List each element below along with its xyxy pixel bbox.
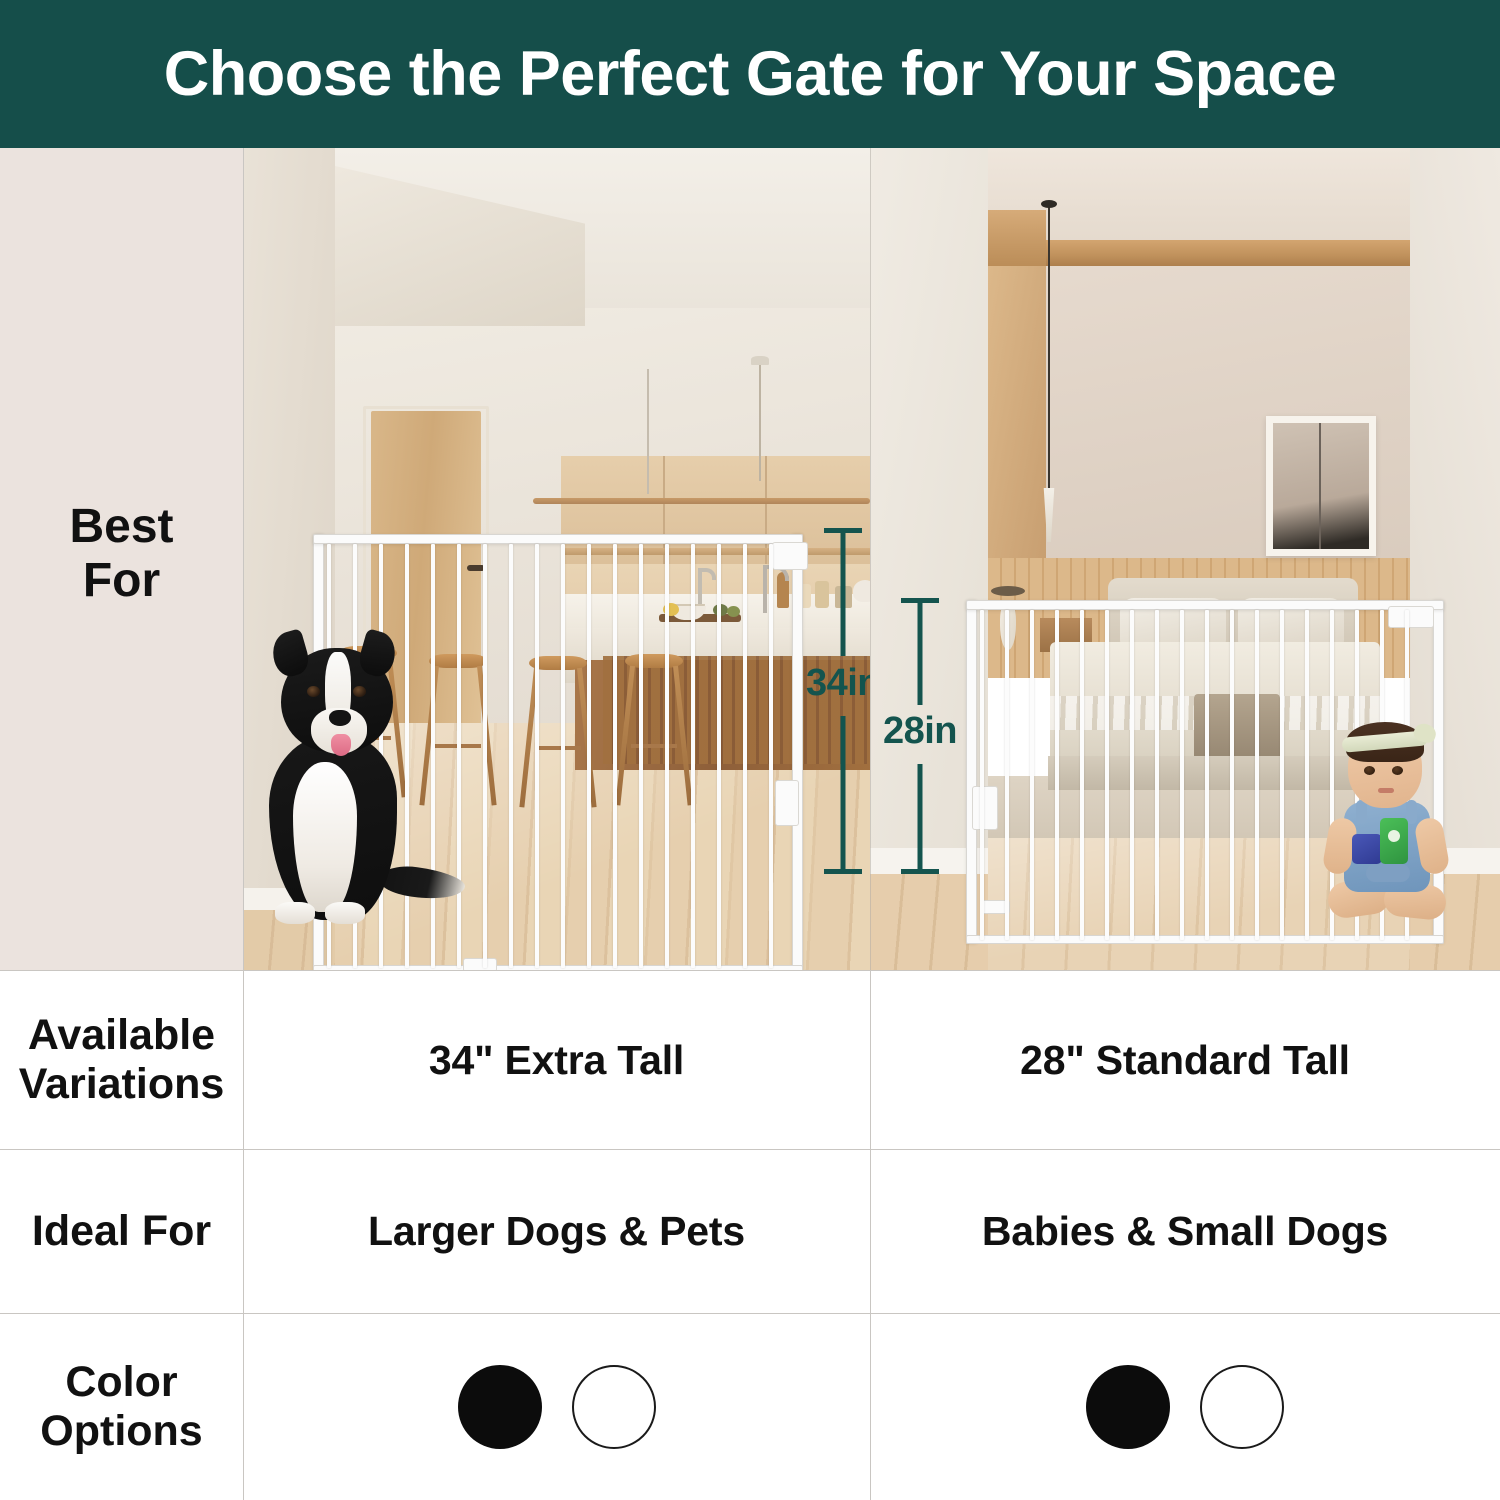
cell-colors-col-b xyxy=(870,1314,1500,1500)
dimension-annotation-34in: 34in xyxy=(783,528,870,874)
ideal-value-standard: Babies & Small Dogs xyxy=(982,1208,1388,1255)
row-label-best-for: Best For xyxy=(0,148,243,970)
color-options-row: Color Options xyxy=(0,1314,1500,1500)
divider-vertical-photo-right xyxy=(870,148,871,970)
cell-colors-col-a xyxy=(243,1314,870,1500)
pendant-light-kitchen xyxy=(751,356,769,365)
cell-ideal-col-a: Larger Dogs & Pets xyxy=(243,1150,870,1313)
row-label-available-variations: Available Variations xyxy=(0,971,243,1149)
color-swatch-black[interactable] xyxy=(458,1365,542,1449)
photo-kitchen-tall-gate: 34in xyxy=(243,148,870,970)
color-swatch-white[interactable] xyxy=(572,1365,656,1449)
header-banner: Choose the Perfect Gate for Your Space xyxy=(0,0,1500,148)
row-label-ideal-for: Ideal For xyxy=(0,1150,243,1313)
dimension-annotation-28in: 28in xyxy=(870,598,980,876)
best-for-label: Best For xyxy=(69,500,173,618)
cell-variations-col-a: 34" Extra Tall xyxy=(243,971,870,1149)
divider-vertical-photo-left xyxy=(243,148,244,970)
variation-value-tall: 34" Extra Tall xyxy=(429,1037,684,1084)
toy-block-blue xyxy=(1352,834,1382,864)
divider-vertical-left xyxy=(243,970,244,1500)
dimension-label-34in: 34in xyxy=(806,662,870,705)
photo-bedroom-standard-gate: 28in xyxy=(870,148,1500,970)
color-options-label: Color Options xyxy=(40,1358,202,1455)
available-variations-row: Available Variations 34" Extra Tall 28" … xyxy=(0,971,1500,1149)
row-label-color-options: Color Options xyxy=(0,1314,243,1500)
border-collie-dog xyxy=(251,630,467,930)
best-for-row: Best For xyxy=(0,148,1500,970)
ideal-for-label: Ideal For xyxy=(32,1207,211,1256)
infographic-page: Choose the Perfect Gate for Your Space B… xyxy=(0,0,1500,1500)
page-title: Choose the Perfect Gate for Your Space xyxy=(164,38,1337,110)
cell-ideal-col-b: Babies & Small Dogs xyxy=(870,1150,1500,1313)
color-swatch-white[interactable] xyxy=(1200,1365,1284,1449)
divider-vertical-right xyxy=(870,970,871,1500)
dimension-label-28in: 28in xyxy=(883,710,957,753)
baby-with-blocks xyxy=(1322,718,1452,928)
ideal-value-tall: Larger Dogs & Pets xyxy=(368,1208,745,1255)
available-variations-label: Available Variations xyxy=(19,1011,225,1108)
cell-variations-col-b: 28" Standard Tall xyxy=(870,971,1500,1149)
color-swatch-black[interactable] xyxy=(1086,1365,1170,1449)
ideal-for-row: Ideal For Larger Dogs & Pets Babies & Sm… xyxy=(0,1150,1500,1313)
variation-value-standard: 28" Standard Tall xyxy=(1020,1037,1350,1084)
